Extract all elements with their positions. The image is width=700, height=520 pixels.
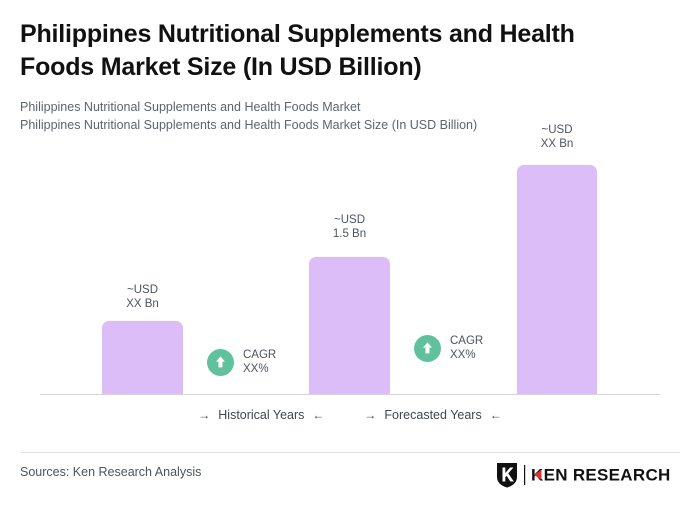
bar-value-label-2: ~USD 1.5 Bn — [309, 213, 390, 241]
x-axis-baseline — [40, 394, 660, 395]
bar-value-label-1-line1: ~USD — [102, 283, 183, 297]
cagr-badge-1-line2: XX% — [243, 363, 269, 375]
page-title: Philippines Nutritional Supplements and … — [20, 18, 640, 84]
cagr-badge-2-line2: XX% — [450, 349, 476, 361]
period-historical-label: Historical Years — [218, 408, 304, 422]
period-historical: → Historical Years ← — [198, 408, 324, 422]
logo-divider — [523, 465, 526, 485]
bar-3[interactable] — [517, 165, 597, 395]
cagr-badge-1-text: CAGR XX% — [243, 348, 276, 376]
period-labels: → Historical Years ← → Forecasted Years … — [0, 408, 700, 422]
cagr-badge-1: CAGR XX% — [207, 348, 276, 376]
arrow-up-icon — [414, 335, 441, 362]
period-forecasted-label: Forecasted Years — [384, 408, 481, 422]
logo-wordmark: KEN RESEARCH — [531, 465, 683, 485]
chart-page: Philippines Nutritional Supplements and … — [0, 0, 700, 520]
bar-value-label-1-line2: XX Bn — [102, 297, 183, 311]
cagr-badge-1-line1: CAGR — [243, 349, 276, 361]
ken-research-logo: KEN RESEARCH — [496, 462, 683, 488]
arrow-right-icon: → — [198, 408, 210, 422]
arrow-up-icon — [207, 349, 234, 376]
arrow-left-icon: ← — [490, 408, 502, 422]
arrow-left-icon: ← — [312, 408, 324, 422]
sources-text: Sources: Ken Research Analysis — [20, 465, 201, 479]
cagr-badge-2: CAGR XX% — [414, 334, 483, 362]
bar-1[interactable] — [102, 321, 183, 395]
bar-2[interactable] — [309, 257, 390, 395]
bar-value-label-2-line2: 1.5 Bn — [309, 227, 390, 241]
svg-text:KEN RESEARCH: KEN RESEARCH — [531, 466, 671, 485]
chart-plot-area: ~USD XX Bn CAGR XX% ~USD 1.5 Bn — [0, 110, 700, 400]
footer-divider — [20, 452, 680, 453]
arrow-right-icon: → — [364, 408, 376, 422]
cagr-badge-2-text: CAGR XX% — [450, 334, 483, 362]
bar-value-label-1: ~USD XX Bn — [102, 283, 183, 311]
bar-value-label-2-line1: ~USD — [309, 213, 390, 227]
shield-k-icon — [496, 462, 518, 488]
cagr-badge-2-line1: CAGR — [450, 335, 483, 347]
bar-value-label-3: ~USD XX Bn — [517, 123, 597, 151]
bar-value-label-3-line1: ~USD — [517, 123, 597, 137]
period-forecasted: → Forecasted Years ← — [364, 408, 501, 422]
bar-value-label-3-line2: XX Bn — [517, 137, 597, 151]
